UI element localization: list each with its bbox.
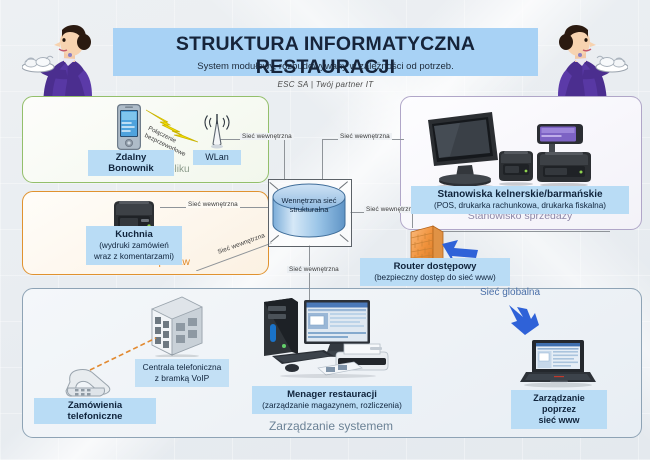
global-network-label: Sieć globalna	[480, 287, 600, 298]
chip-pos: Stanowiska kelnerskie/barmańskie (POS, d…	[411, 186, 629, 214]
line-router-to-pos	[430, 231, 610, 232]
router-title: Router dostępowy	[364, 261, 506, 272]
netlabel-pos-to-hub: Sieć wewnętrzna	[338, 133, 392, 140]
company-tagline: ESC SA | Twój partner IT	[113, 80, 538, 89]
chip-kitchen: Kuchnia (wydruki zamówień wraz z komenta…	[86, 226, 182, 265]
chip-wlan: WLan	[193, 150, 241, 165]
wlan-label: WLan	[205, 152, 229, 162]
title-banner: STRUKTURA INFORMATYCZNA RESTAURACJI Syst…	[113, 28, 538, 76]
netlabel-remote-to-hub: Sieć wewnętrzna	[240, 133, 294, 140]
diagram-canvas: STRUKTURA INFORMATYCZNA RESTAURACJI Syst…	[0, 0, 650, 460]
hub-label: Wennętrzna sieć strukturalna	[272, 196, 346, 214]
line-hub-to-manager	[309, 245, 310, 303]
chip-web-management: Zarządzanie poprzez sieć www	[511, 390, 607, 429]
manager-title: Menager restauracji	[256, 389, 408, 400]
page-title: STRUKTURA INFORMATYCZNA RESTAURACJI	[113, 33, 538, 79]
line-pos-left-stub	[392, 139, 404, 140]
phone-orders-label: Zamówienia telefoniczne	[40, 400, 150, 422]
telephone-icon	[62, 364, 116, 402]
hub-label-line2: strukturalna	[290, 205, 329, 214]
pos-title: Stanowiska kelnerskie/barmańskie	[415, 189, 625, 200]
netlabel-hub-to-manager: Sieć wewnętrzna	[287, 266, 341, 273]
line-pos-to-hub-v	[322, 139, 323, 179]
remote-device-label: Zdalny Bonownik	[94, 152, 168, 174]
arrow-internet-to-laptop	[505, 303, 547, 339]
netlabel-hub-to-router: Sieć wewnętrzna	[364, 206, 418, 213]
router-subtitle: (bezpieczny dostęp do sieć www)	[364, 272, 506, 283]
chip-phone-orders: Zamówienia telefoniczne	[34, 398, 156, 424]
kitchen-title: Kuchnia	[90, 229, 178, 240]
chip-manager: Menager restauracji (zarządzanie magazyn…	[252, 386, 412, 414]
pbx-label-line1: Centrala telefoniczna	[139, 362, 225, 373]
kitchen-sub2: wraz z komentarzami)	[90, 251, 178, 262]
kitchen-sub1: (wydruki zamówień	[90, 240, 178, 251]
netlabel-kitchen-printer: Sieć wewnętrzna	[186, 201, 240, 208]
manager-workstation-icon	[258, 296, 398, 378]
manager-sub: (zarządzanie magazynem, rozliczenia)	[256, 400, 408, 411]
laptop-icon	[516, 338, 600, 390]
page-subtitle: System modułowy, rozbudowywany w zależno…	[113, 61, 538, 72]
receipt-printer-icon	[495, 145, 537, 187]
pda-device-icon	[115, 103, 143, 151]
web-label-line2: sieć www	[515, 415, 603, 426]
pos-sub: (POS, drukarka rachunkowa, drukarka fisk…	[415, 200, 625, 211]
web-label-line1: Zarządzanie poprzez	[515, 393, 603, 415]
pbx-label-line2: z bramką VoIP	[139, 373, 225, 384]
chip-router: Router dostępowy (bezpieczny dostęp do s…	[360, 258, 510, 286]
chip-pbx: Centrala telefoniczna z bramką VoIP	[135, 359, 229, 387]
line-remote-to-hub-v	[284, 139, 285, 179]
fiscal-printer-icon	[535, 120, 595, 188]
hub-label-line1: Wennętrzna sieć	[282, 196, 337, 205]
chip-remote-device: Zdalny Bonownik	[88, 150, 174, 176]
wlan-antenna-icon	[200, 112, 234, 152]
